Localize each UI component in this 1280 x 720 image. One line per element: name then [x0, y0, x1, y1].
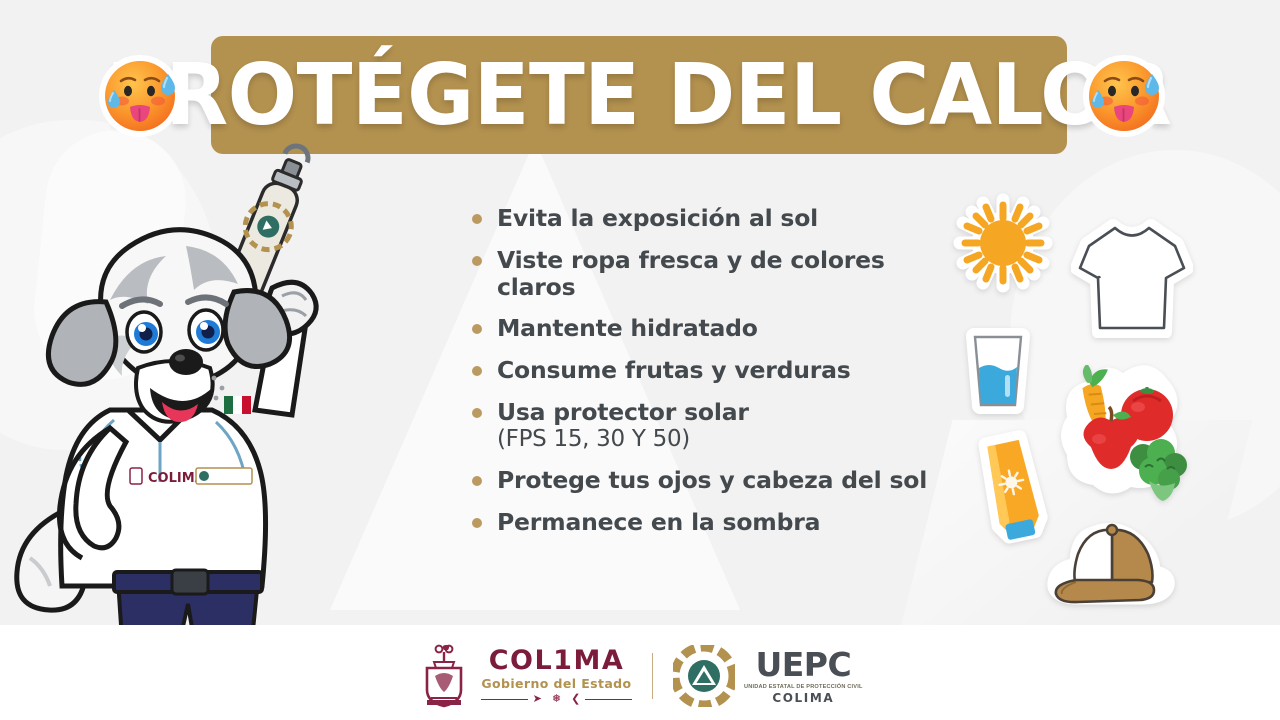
uepc-wordmark: UEPC	[755, 648, 851, 681]
tip-label: Consume frutas y verduras	[497, 357, 851, 384]
tshirt-icon	[1071, 214, 1193, 338]
uepc-logo: UEPC UNIDAD ESTATAL DE PROTECCIÓN CIVIL …	[673, 645, 863, 707]
colima-wordmark: COL1MA	[489, 647, 625, 674]
colima-government-logo: COL1MA Gobierno del Estado ➤ ❅ ❮	[417, 644, 631, 708]
tip-label-sub: (FPS 15, 30 Y 50)	[497, 426, 749, 452]
tip-label: Viste ropa fresca y de colores claros	[497, 247, 942, 301]
perro-mascota-uepc: COLIMA	[10, 110, 440, 645]
tip-label-main: Usa protector solar	[497, 398, 749, 426]
tip-label: Usa protector solar (FPS 15, 30 Y 50)	[497, 399, 749, 452]
hot-face-emoji	[94, 50, 186, 142]
list-item: Viste ropa fresca y de colores claros	[472, 247, 942, 301]
colima-divider-ornament: ➤ ❅ ❮	[481, 694, 631, 705]
colima-subtitle: Gobierno del Estado	[481, 676, 631, 691]
tip-label: Evita la exposición al sol	[497, 205, 818, 232]
hot-face-emoji	[1078, 50, 1170, 142]
tips-list: Evita la exposición al sol Viste ropa fr…	[472, 205, 942, 550]
list-item: Mantente hidratado	[472, 315, 942, 342]
uepc-city: COLIMA	[772, 691, 834, 705]
list-item: Consume frutas y verduras	[472, 357, 942, 384]
footer-divider	[652, 653, 654, 699]
list-item: Protege tus ojos y cabeza del sol	[472, 467, 942, 494]
uepc-emblem-icon	[673, 645, 735, 707]
uepc-subtitle: UNIDAD ESTATAL DE PROTECCIÓN CIVIL	[744, 684, 863, 690]
bullet-dot	[472, 476, 482, 486]
footer-logos: COL1MA Gobierno del Estado ➤ ❅ ❮	[0, 644, 1280, 708]
bullet-dot	[472, 366, 482, 376]
tip-label: Mantente hidratado	[497, 315, 758, 342]
bullet-dot	[472, 518, 482, 528]
colima-coat-of-arms-icon	[417, 644, 471, 708]
sun-icon	[946, 186, 1060, 300]
bullet-dot	[472, 408, 482, 418]
list-item: Permanece en la sombra	[472, 509, 942, 536]
heat-protection-poster: PROTÉGETE DEL CALOR	[0, 0, 1280, 720]
tip-label: Permanece en la sombra	[497, 509, 820, 536]
list-item: Evita la exposición al sol	[472, 205, 942, 232]
list-item: Usa protector solar (FPS 15, 30 Y 50)	[472, 399, 942, 452]
tip-label: Protege tus ojos y cabeza del sol	[497, 467, 927, 494]
sunscreen-icon	[972, 430, 1056, 550]
cap-icon	[1046, 520, 1176, 606]
water-glass-icon	[958, 322, 1038, 416]
fruits-vegetables-icon	[1043, 365, 1193, 525]
bullet-dot	[472, 214, 482, 224]
bullet-dot	[472, 256, 482, 266]
bullet-dot	[472, 324, 482, 334]
